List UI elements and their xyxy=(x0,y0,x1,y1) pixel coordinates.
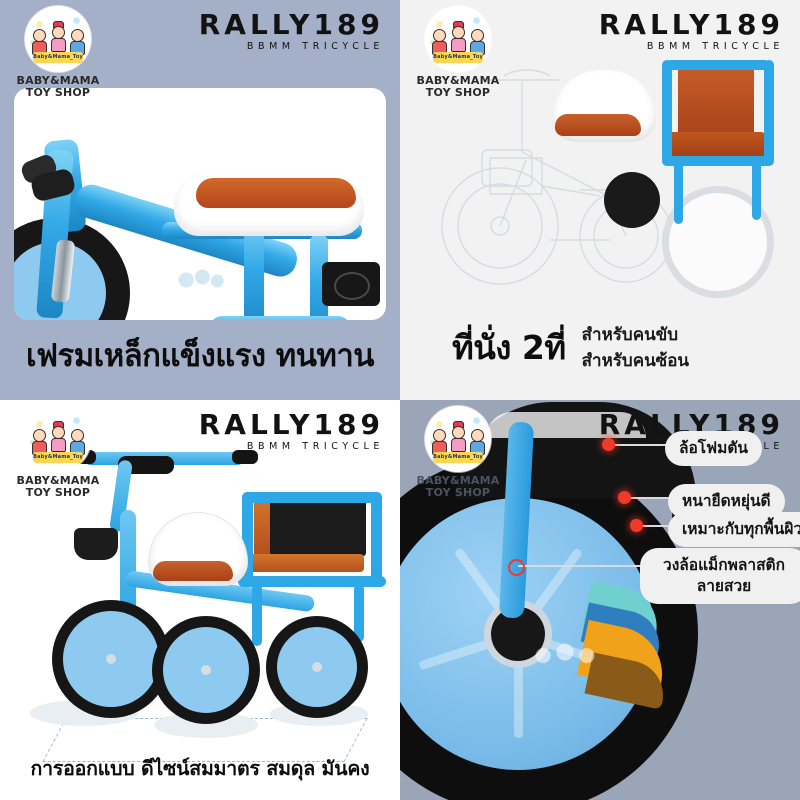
brand-tagline: BBMM TRICYCLE xyxy=(599,41,784,52)
brand-name: RALLY189 xyxy=(599,10,784,40)
frame-closeup-photo xyxy=(14,88,386,320)
rear-pedal xyxy=(322,262,380,306)
chair-leg-left xyxy=(674,160,683,224)
dual-seat-assembly xyxy=(546,60,786,310)
shop-name-line2: TOY SHOP xyxy=(12,487,104,499)
front-basket xyxy=(74,528,118,560)
front-seat-cushion xyxy=(555,114,641,136)
seats-subline-2: สำหรับคนซ้อน xyxy=(582,348,689,374)
logo-ribbon-text: Baby&Mama_Toy xyxy=(433,52,483,63)
chair-cushion xyxy=(238,554,364,572)
panel-wheel: Baby&Mama_Toy BABY&MAMA TOY SHOP RALLY18… xyxy=(400,400,800,800)
callout-marker-4 xyxy=(508,559,525,576)
front-seat-cushion xyxy=(153,561,233,581)
brand-tagline: BBMM TRICYCLE xyxy=(199,441,384,452)
front-seat xyxy=(174,172,364,236)
panel-seats-caption: ที่นั่ง 2ที่ สำหรับคนขับ สำหรับคนซ้อน xyxy=(452,321,689,374)
logo-ribbon-text: Baby&Mama_Toy xyxy=(33,452,83,463)
rear-child-chair xyxy=(656,60,776,190)
three-cartoon-kids-logo-icon: Baby&Mama_Toy xyxy=(25,406,91,472)
callout-label-1: ล้อโฟมตัน xyxy=(665,431,762,466)
three-cartoon-kids-logo-icon: Baby&Mama_Toy xyxy=(25,6,91,72)
brand-name: RALLY189 xyxy=(199,410,384,440)
seats-headline: ที่นั่ง 2ที่ xyxy=(452,321,566,374)
logo-ribbon-text: Baby&Mama_Toy xyxy=(433,452,483,463)
panel-frame: Baby&Mama_Toy BABY&MAMA TOY SHOP RALLY18… xyxy=(0,0,400,400)
shop-logo: Baby&Mama_Toy BABY&MAMA TOY SHOP xyxy=(412,6,504,99)
mesh-backrest xyxy=(270,498,366,556)
product-collage: Baby&Mama_Toy BABY&MAMA TOY SHOP RALLY18… xyxy=(0,0,800,800)
rear-chair xyxy=(228,492,388,612)
callout-connector xyxy=(518,565,644,567)
callout-label-4: วงล้อแม็กพลาสติก ลายสวย xyxy=(640,548,800,604)
callout-label-3: เหมาะกับทุกพื้นผิว xyxy=(668,512,800,547)
chair-frame-right xyxy=(371,492,382,584)
seats-subline-1: สำหรับคนขับ xyxy=(582,322,689,348)
shop-logo: Baby&Mama_Toy BABY&MAMA TOY SHOP xyxy=(12,6,104,99)
brand-lockup: RALLY189 BBMM TRICYCLE xyxy=(199,10,384,52)
mid-wheel xyxy=(604,172,660,228)
rim-watermark-sticker xyxy=(526,638,604,682)
brand-name: RALLY189 xyxy=(199,10,384,40)
cross-tube xyxy=(210,316,350,320)
shop-name-line2: TOY SHOP xyxy=(12,87,104,99)
panel-design-caption: การออกแบบ ดีไซน์สมมาตร สมดุล มันคง xyxy=(0,753,400,784)
shop-logo: Baby&Mama_Toy BABY&MAMA TOY SHOP xyxy=(412,406,504,499)
watermark xyxy=(164,260,238,310)
rear-wheel xyxy=(266,616,368,718)
panel-seats: Baby&Mama_Toy BABY&MAMA TOY SHOP RALLY18… xyxy=(400,0,800,400)
chair-frame-top xyxy=(242,492,382,503)
panel-frame-caption: เฟรมเหล็กแข็งแรง ทนทาน xyxy=(0,330,400,380)
chair-frame-left xyxy=(662,60,672,164)
chair-backrest xyxy=(678,64,754,138)
front-seat xyxy=(552,70,656,142)
logo-ribbon-text: Baby&Mama_Toy xyxy=(33,52,83,63)
middle-wheel xyxy=(152,616,260,724)
panel-design: Baby&Mama_Toy BABY&MAMA TOY SHOP RALLY18… xyxy=(0,400,400,800)
callout-marker-1 xyxy=(602,438,615,451)
seat-cushion xyxy=(196,178,356,208)
chair-frame-right xyxy=(764,60,774,164)
right-grip xyxy=(232,450,258,464)
callout-marker-3 xyxy=(630,519,643,532)
shop-name-line2: TOY SHOP xyxy=(412,87,504,99)
chair-leg-left xyxy=(252,584,262,646)
callout-marker-2 xyxy=(618,491,631,504)
brand-lockup: RALLY189 BBMM TRICYCLE xyxy=(199,410,384,452)
chair-leg-right xyxy=(752,160,761,220)
callout-connector xyxy=(610,444,672,446)
shop-logo: Baby&Mama_Toy BABY&MAMA TOY SHOP xyxy=(12,406,104,499)
shop-name-line2: TOY SHOP xyxy=(412,487,504,499)
brand-lockup: RALLY189 BBMM TRICYCLE xyxy=(599,10,784,52)
three-cartoon-kids-logo-icon: Baby&Mama_Toy xyxy=(425,6,491,72)
chair-frame-top xyxy=(666,60,770,70)
three-cartoon-kids-logo-icon: Baby&Mama_Toy xyxy=(425,406,491,472)
callout-connector xyxy=(628,497,674,499)
brand-tagline: BBMM TRICYCLE xyxy=(199,41,384,52)
